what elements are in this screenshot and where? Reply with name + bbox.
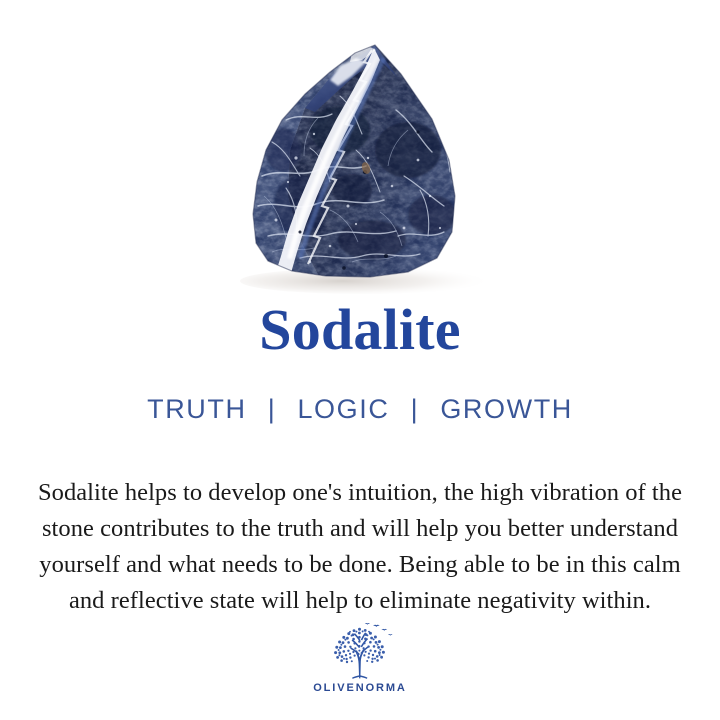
keyword-list: TRUTH | LOGIC | GROWTH — [0, 392, 720, 426]
crystal-info-card: Sodalite TRUTH | LOGIC | GROWTH Sodalite… — [0, 0, 720, 720]
tree-of-life-icon — [317, 622, 403, 680]
page-title: Sodalite — [0, 296, 720, 364]
sodalite-crystal-image — [0, 0, 720, 300]
keyword-separator-2: | — [399, 392, 432, 426]
hero-image-area — [0, 0, 720, 300]
keyword-logic: LOGIC — [297, 394, 389, 424]
keyword-truth: TRUTH — [147, 394, 246, 424]
description-text: Sodalite helps to develop one's intuitio… — [22, 475, 698, 619]
keyword-growth: GROWTH — [440, 394, 573, 424]
brand-logo: OLIVENORMA — [0, 622, 720, 694]
keyword-separator-1: | — [256, 392, 289, 426]
brand-wordmark: OLIVENORMA — [313, 682, 407, 694]
crystal-body — [240, 30, 470, 290]
